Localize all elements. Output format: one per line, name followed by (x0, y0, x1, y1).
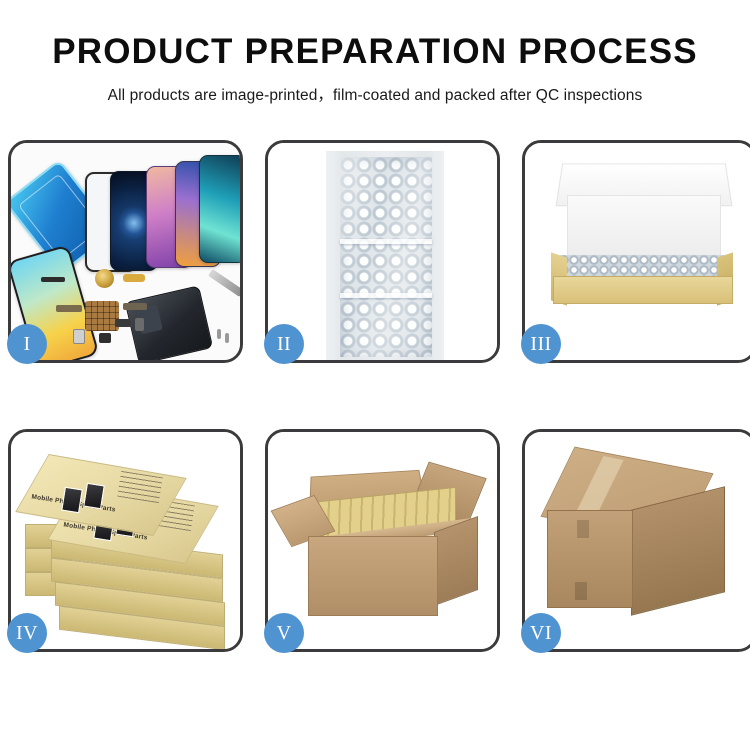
carton-seam (577, 520, 589, 538)
step-4-illustration: Mobile Phone Spare Parts Mobile Phone Sp… (11, 432, 240, 649)
copper-coil-part (95, 269, 114, 288)
pouch-fold-line (340, 293, 432, 298)
process-step-panel-4[interactable]: Mobile Phone Spare Parts Mobile Phone Sp… (8, 429, 243, 652)
button-part (135, 318, 144, 331)
page-header: PRODUCT PREPARATION PROCESS All products… (0, 0, 750, 105)
plastic-sheen (340, 157, 432, 357)
gold-connector-part (123, 274, 145, 282)
phone-teal (199, 155, 240, 263)
process-step-panel-6[interactable]: VI (522, 429, 750, 652)
step-badge-3: III (521, 324, 561, 364)
flex-cable-part (41, 277, 65, 282)
camera-module-part (115, 319, 131, 327)
step-6-illustration (525, 432, 750, 649)
carton-front-face (547, 510, 633, 608)
box-window-image (61, 487, 83, 514)
small-sensor-part (73, 329, 85, 344)
screw-part (225, 333, 229, 343)
process-step-grid: I II III (8, 140, 742, 652)
page-subtitle: All products are image-printed，film-coat… (0, 83, 750, 105)
step-5-illustration (268, 432, 497, 649)
box-interior (567, 195, 721, 261)
page-title: PRODUCT PREPARATION PROCESS (0, 34, 750, 71)
step-3-illustration (525, 143, 750, 360)
chip-grid-part (85, 301, 119, 331)
step-badge-2: II (264, 324, 304, 364)
step-1-illustration (11, 143, 240, 360)
pouch-fold-line (340, 239, 432, 244)
carton-seam (575, 582, 587, 600)
process-step-panel-1[interactable]: I (8, 140, 243, 363)
box-window-image (83, 483, 105, 510)
box-front-wall (553, 276, 733, 304)
carton-front-wall (308, 536, 438, 616)
step-badge-6: VI (521, 613, 561, 653)
process-step-panel-5[interactable]: V (265, 429, 500, 652)
step-2-illustration (268, 143, 497, 360)
speaker-part (99, 333, 111, 343)
ribbon-cable-part (123, 303, 147, 310)
step-badge-5: V (264, 613, 304, 653)
ribbon-cable-part (56, 305, 82, 312)
screw-part (217, 329, 221, 339)
process-step-panel-2[interactable]: II (265, 140, 500, 363)
step-badge-1: I (7, 324, 47, 364)
process-step-panel-3[interactable]: III (522, 140, 750, 363)
step-badge-4: IV (7, 613, 47, 653)
